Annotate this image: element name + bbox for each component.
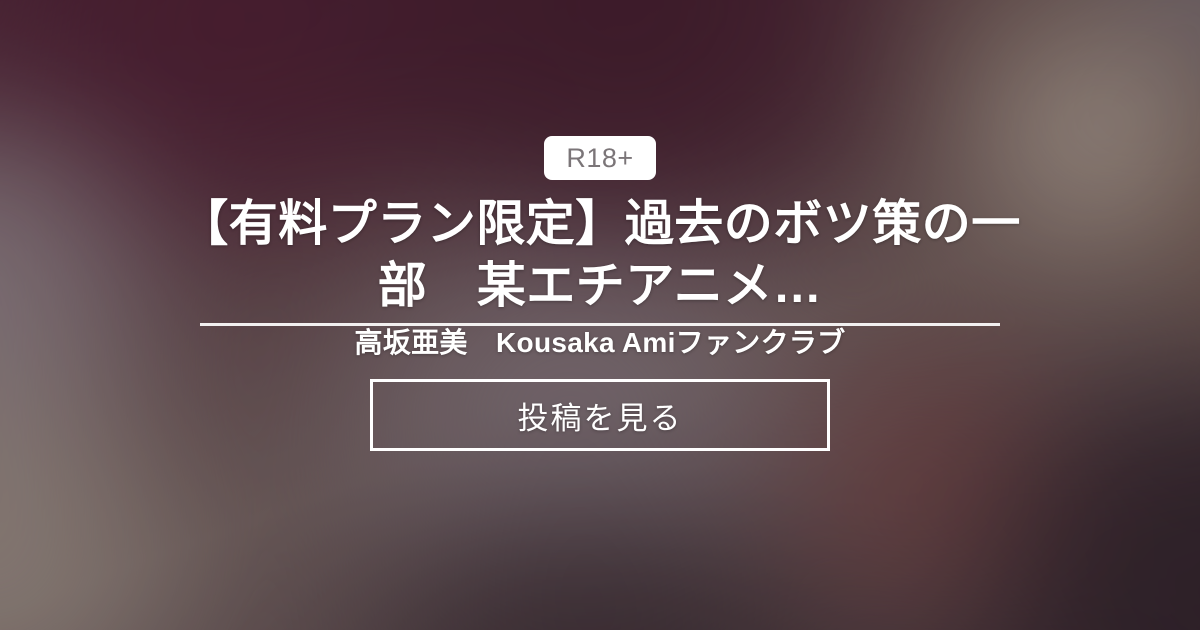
age-rating-badge: R18+ xyxy=(544,136,655,180)
fanclub-name: 高坂亜美 Kousaka Amiファンクラブ xyxy=(280,330,920,357)
view-post-button[interactable]: 投稿を見る xyxy=(370,379,830,451)
share-card: R18+ 【有料プラン限定】過去のボツ策の一部 某エチアニメ… 高坂亜美 Kou… xyxy=(0,0,1200,630)
post-title: 【有料プラン限定】過去のボツ策の一部 某エチアニメ… xyxy=(160,194,1040,317)
card-content: R18+ 【有料プラン限定】過去のボツ策の一部 某エチアニメ… 高坂亜美 Kou… xyxy=(0,0,1200,630)
